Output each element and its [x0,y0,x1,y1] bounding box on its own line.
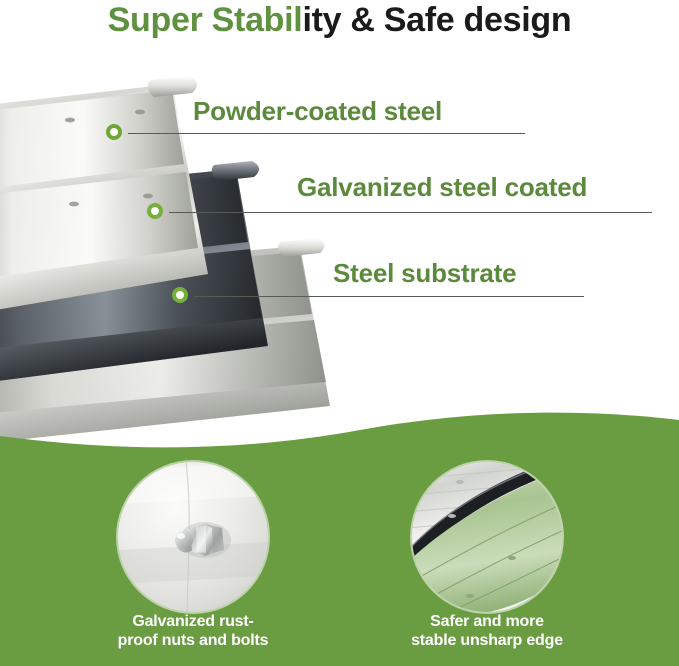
features-section: Galvanized rust- proof nuts and bolts Sa… [0,400,679,666]
page-title: Super Stability & Safe design [0,0,679,46]
leader-line-powder-coated-steel [128,133,525,134]
callout-dot-galvanized-steel-coated[interactable] [147,203,163,219]
callout-dot-powder-coated-steel[interactable] [106,124,122,140]
feature-caption-unsharp-edge: Safer and more stable unsharp edge [367,612,607,650]
page-title-green: Super Stabil [108,1,303,39]
leader-line-galvanized-steel-coated [169,212,652,213]
page-title-dark: ity & Safe design [302,1,571,39]
leader-line-steel-substrate [194,296,584,297]
feature-image-bolt [116,460,270,614]
callout-label-steel-substrate: Steel substrate [333,258,516,289]
feature-caption-galvanized-nuts-bolts: Galvanized rust- proof nuts and bolts [73,612,313,650]
callout-label-powder-coated-steel: Powder-coated steel [193,96,442,127]
callout-dot-steel-substrate[interactable] [172,287,188,303]
product-feature-infographic: Super Stability & Safe design [0,0,679,666]
callout-label-galvanized-steel-coated: Galvanized steel coated [297,172,587,203]
